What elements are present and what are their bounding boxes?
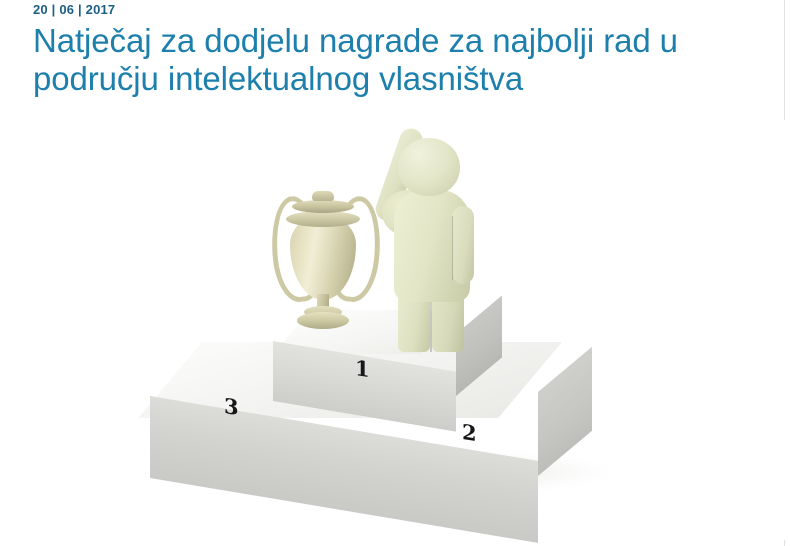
article-illustration: 1 2 3 bbox=[0, 120, 790, 540]
page-title: Natječaj za dodjelu nagrade za najbolji … bbox=[33, 22, 733, 98]
figure-head bbox=[398, 138, 460, 196]
podium-number-1: 1 bbox=[355, 355, 370, 382]
figure-arm-seam bbox=[452, 216, 453, 280]
podium-scene: 1 2 3 bbox=[150, 120, 650, 520]
podium-base-front-face bbox=[150, 396, 538, 543]
trophy-knob bbox=[312, 191, 334, 201]
podium-number-3: 3 bbox=[224, 393, 239, 420]
article-page: 20 | 06 | 2017 Natječaj za dodjelu nagra… bbox=[0, 0, 790, 546]
figure-lowered-arm bbox=[452, 206, 474, 284]
trophy-lid bbox=[292, 200, 354, 213]
article-date: 20 | 06 | 2017 bbox=[33, 2, 753, 18]
trophy-base bbox=[297, 312, 349, 329]
podium-number-2: 2 bbox=[462, 419, 477, 446]
article-header: 20 | 06 | 2017 Natječaj za dodjelu nagra… bbox=[33, 2, 753, 98]
winner-figure bbox=[348, 128, 488, 358]
